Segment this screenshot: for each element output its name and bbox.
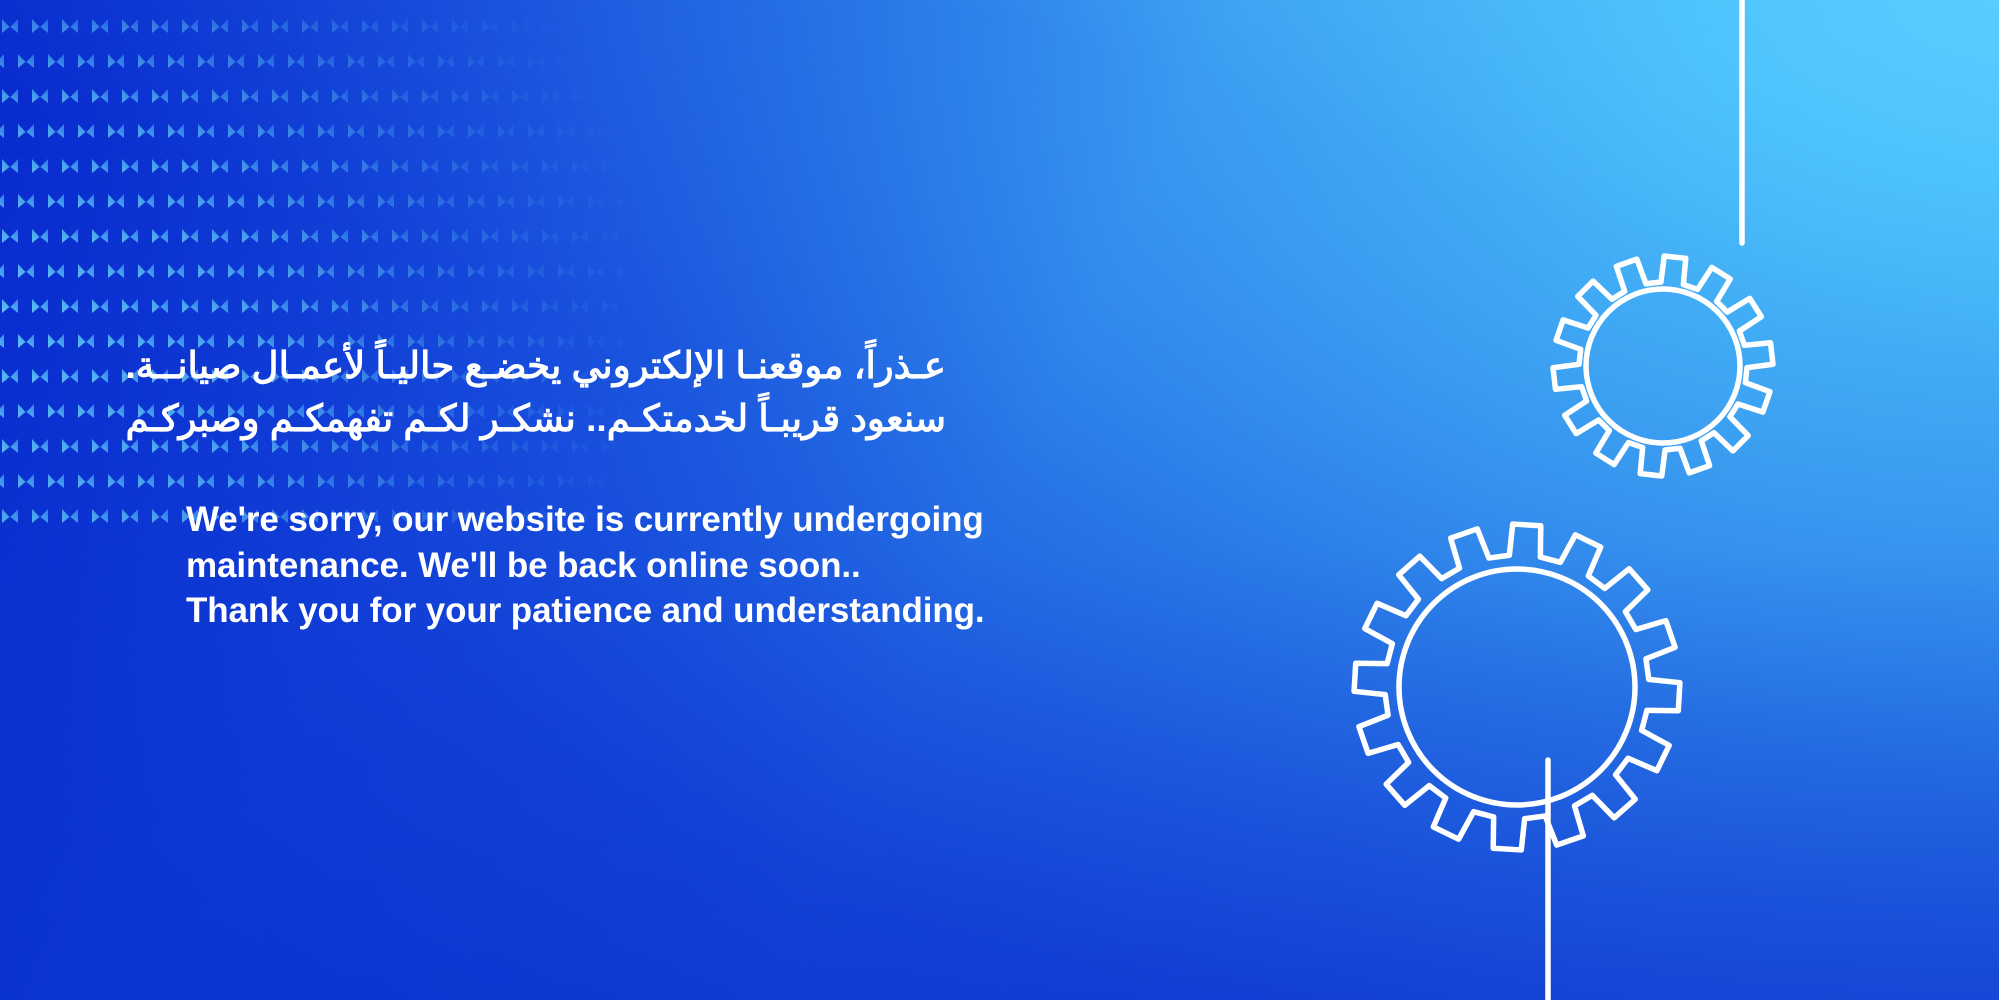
arabic-line-2: سنعود قريبـاً لخدمتكـم.. نشكـر لكـم تفهم… xyxy=(186,393,946,446)
arabic-message: عـذراً، موقعنـا الإلكتروني يخضـع حاليـاً… xyxy=(186,340,946,445)
message-block: عـذراً، موقعنـا الإلكتروني يخضـع حاليـاً… xyxy=(186,340,1186,634)
english-line-1: We're sorry, our website is currently un… xyxy=(186,497,1186,543)
message-spacer xyxy=(186,445,1186,497)
maintenance-page: عـذراً، موقعنـا الإلكتروني يخضـع حاليـاً… xyxy=(0,0,1999,1000)
english-line-2: maintenance. We'll be back online soon.. xyxy=(186,543,1186,589)
arabic-line-1: عـذراً، موقعنـا الإلكتروني يخضـع حاليـاً… xyxy=(186,340,946,393)
english-line-3: Thank you for your patience and understa… xyxy=(186,588,1186,634)
english-message: We're sorry, our website is currently un… xyxy=(186,497,1186,634)
